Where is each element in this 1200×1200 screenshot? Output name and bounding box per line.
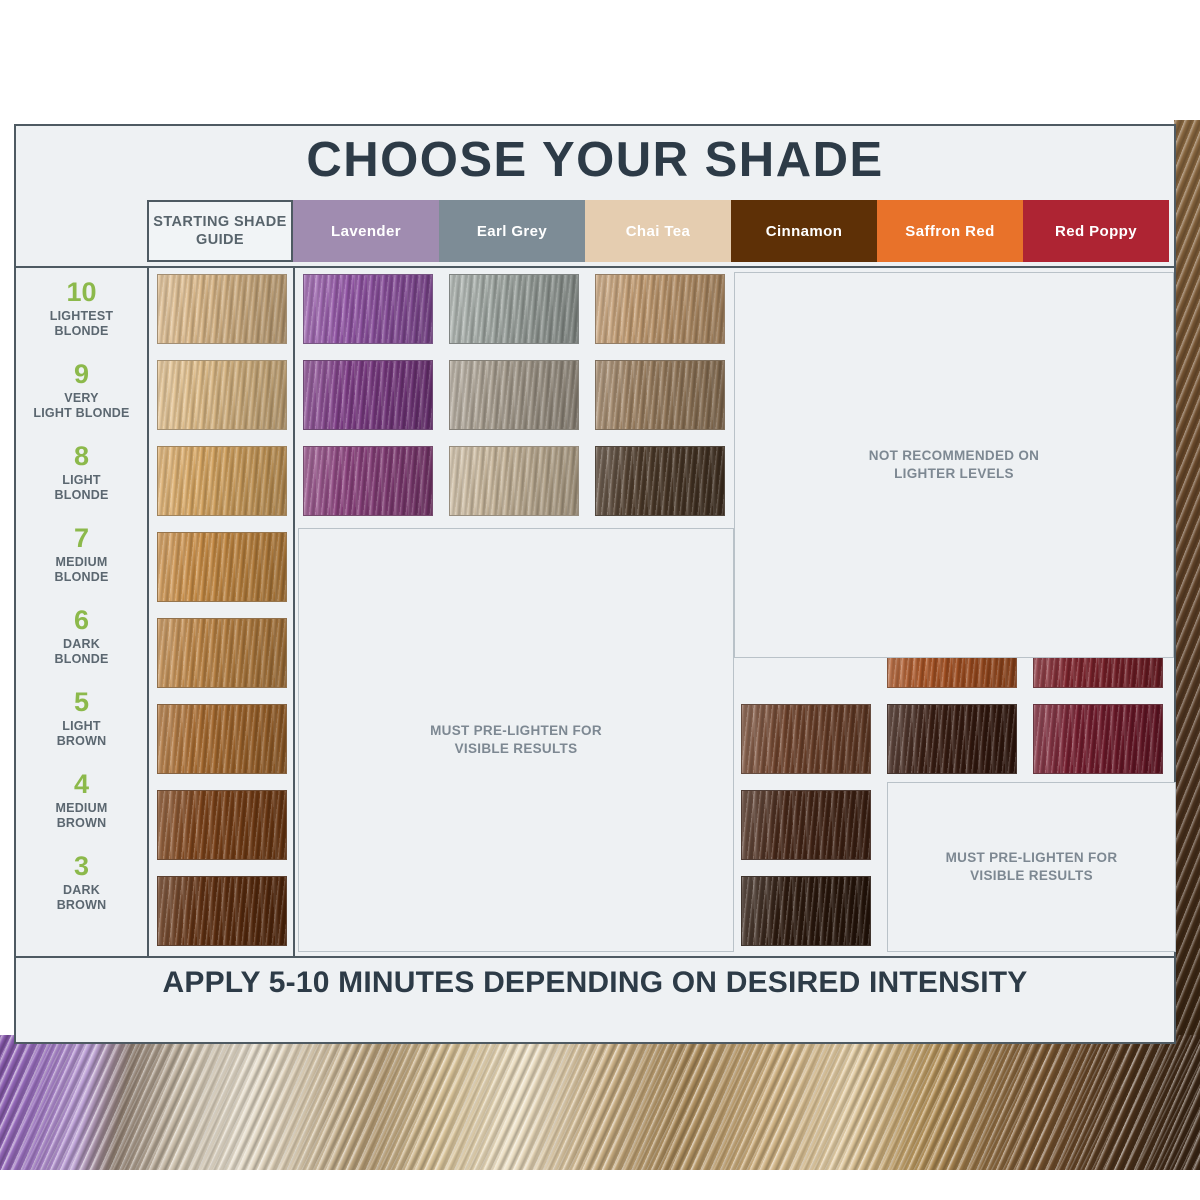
level-row-6: 6DARK BLONDE [16, 596, 147, 678]
note-not-recommended: NOT RECOMMENDED ON LIGHTER LEVELS [734, 272, 1174, 658]
hair-swatch [449, 360, 579, 430]
hair-swatch [157, 446, 287, 516]
level-name: DARK BLONDE [55, 637, 109, 667]
hair-swatch [157, 274, 287, 344]
swatch-cell-guide-3[interactable] [149, 870, 295, 952]
chart-card: CHOOSE YOUR SHADE STARTING SHADE GUIDELa… [14, 124, 1176, 1044]
header-shade-saffron-red[interactable]: Saffron Red [877, 200, 1023, 262]
level-name: LIGHT BROWN [57, 719, 107, 749]
swatch-cell-earl-grey-10[interactable] [441, 268, 587, 350]
hair-photo-band [0, 1035, 1200, 1170]
page-title: CHOOSE YOUR SHADE [16, 132, 1174, 188]
swatch-cell-earl-grey-8[interactable] [441, 440, 587, 522]
level-row-10: 10LIGHTEST BLONDE [16, 268, 147, 350]
hair-swatch [887, 704, 1017, 774]
header-shade-cinnamon[interactable]: Cinnamon [731, 200, 877, 262]
swatch-cell-guide-8[interactable] [149, 440, 295, 522]
hair-swatch [741, 876, 871, 946]
level-row-9: 9VERY LIGHT BLONDE [16, 350, 147, 432]
swatch-cell-saffron-red-5[interactable] [879, 698, 1025, 780]
hair-swatch [741, 704, 871, 774]
hair-swatch [449, 446, 579, 516]
level-number: 4 [74, 771, 89, 798]
swatch-cell-guide-10[interactable] [149, 268, 295, 350]
swatch-cell-chai-tea-9[interactable] [587, 354, 733, 436]
header-shade-red-poppy[interactable]: Red Poppy [1023, 200, 1169, 262]
header-starting-shade-guide: STARTING SHADE GUIDE [147, 200, 293, 262]
hair-swatch [157, 704, 287, 774]
hair-swatch [157, 618, 287, 688]
hair-photo-right [1174, 120, 1200, 1070]
swatch-cell-chai-tea-10[interactable] [587, 268, 733, 350]
header-shade-lavender[interactable]: Lavender [293, 200, 439, 262]
level-number: 6 [74, 607, 89, 634]
swatch-cell-red-poppy-5[interactable] [1025, 698, 1171, 780]
swatch-cell-guide-5[interactable] [149, 698, 295, 780]
hair-swatch [157, 360, 287, 430]
swatch-cell-lavender-8[interactable] [295, 440, 441, 522]
hair-swatch [1033, 704, 1163, 774]
header-shade-earl-grey[interactable]: Earl Grey [439, 200, 585, 262]
swatch-cell-guide-9[interactable] [149, 354, 295, 436]
level-name: LIGHT BLONDE [55, 473, 109, 503]
hair-swatch [303, 360, 433, 430]
swatch-cell-lavender-9[interactable] [295, 354, 441, 436]
footer-divider [16, 956, 1174, 958]
hair-swatch [157, 876, 287, 946]
shade-header-row: STARTING SHADE GUIDELavenderEarl GreyCha… [147, 200, 1169, 262]
level-number: 10 [66, 279, 96, 306]
swatch-cell-chai-tea-8[interactable] [587, 440, 733, 522]
hair-swatch [595, 274, 725, 344]
swatch-cell-guide-7[interactable] [149, 526, 295, 608]
level-name: LIGHTEST BLONDE [50, 309, 113, 339]
shade-chart-stage: CHOOSE YOUR SHADE STARTING SHADE GUIDELa… [0, 0, 1200, 1200]
hair-swatch [449, 274, 579, 344]
level-row-7: 7MEDIUM BLONDE [16, 514, 147, 596]
level-row-3: 3DARK BROWN [16, 842, 147, 924]
hair-swatch [157, 532, 287, 602]
level-row-4: 4MEDIUM BROWN [16, 760, 147, 842]
level-name: MEDIUM BROWN [56, 801, 108, 831]
level-number: 5 [74, 689, 89, 716]
swatch-cell-cinnamon-4[interactable] [733, 784, 879, 866]
swatch-cell-guide-4[interactable] [149, 784, 295, 866]
level-name: MEDIUM BLONDE [55, 555, 109, 585]
footer-instruction: APPLY 5-10 MINUTES DEPENDING ON DESIRED … [16, 966, 1174, 1000]
header-shade-chai-tea[interactable]: Chai Tea [585, 200, 731, 262]
note-pre-lighten-right: MUST PRE-LIGHTEN FOR VISIBLE RESULTS [887, 782, 1176, 952]
note-pre-lighten-left: MUST PRE-LIGHTEN FOR VISIBLE RESULTS [298, 528, 734, 952]
level-label-column: 10LIGHTEST BLONDE9VERY LIGHT BLONDE8LIGH… [16, 268, 147, 924]
swatch-cell-cinnamon-5[interactable] [733, 698, 879, 780]
hair-swatch [741, 790, 871, 860]
swatch-cell-earl-grey-9[interactable] [441, 354, 587, 436]
level-number: 8 [74, 443, 89, 470]
hair-swatch [303, 446, 433, 516]
level-number: 3 [74, 853, 89, 880]
hair-swatch [157, 790, 287, 860]
hair-swatch [303, 274, 433, 344]
swatch-cell-cinnamon-3[interactable] [733, 870, 879, 952]
swatch-cell-lavender-10[interactable] [295, 268, 441, 350]
level-row-8: 8LIGHT BLONDE [16, 432, 147, 514]
hair-swatch [595, 360, 725, 430]
level-number: 9 [74, 361, 89, 388]
hair-swatch [595, 446, 725, 516]
level-row-5: 5LIGHT BROWN [16, 678, 147, 760]
level-name: VERY LIGHT BLONDE [33, 391, 129, 421]
level-number: 7 [74, 525, 89, 552]
swatch-cell-guide-6[interactable] [149, 612, 295, 694]
swatch-grid: NOT RECOMMENDED ON LIGHTER LEVELSMUST PR… [149, 268, 1176, 956]
level-name: DARK BROWN [57, 883, 107, 913]
